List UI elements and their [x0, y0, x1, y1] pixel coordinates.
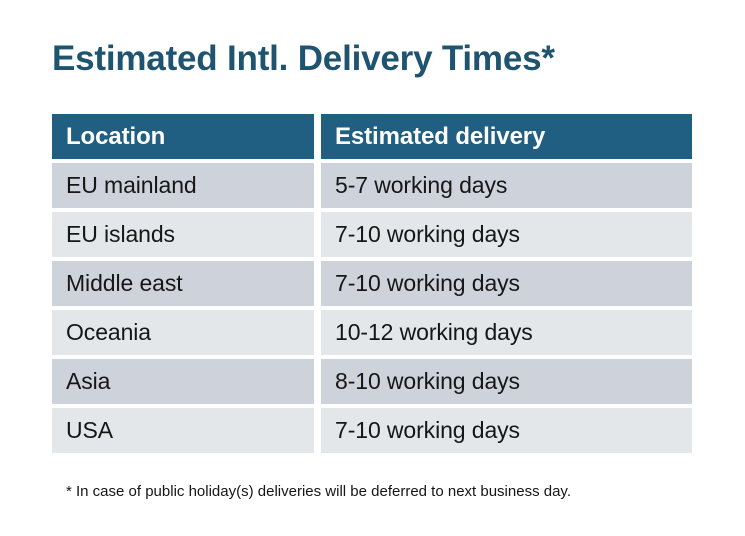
cell-estimated-delivery: 5-7 working days [321, 163, 692, 208]
delivery-times-table: Location Estimated delivery EU mainland … [52, 114, 692, 453]
table-header-row: Location Estimated delivery [52, 114, 692, 159]
table-row: USA 7-10 working days [52, 408, 692, 453]
column-separator [314, 359, 321, 404]
table-row: Oceania 10-12 working days [52, 310, 692, 355]
column-separator [314, 163, 321, 208]
cell-location: Asia [52, 359, 314, 404]
column-separator [314, 408, 321, 453]
table-row: Asia 8-10 working days [52, 359, 692, 404]
column-separator [314, 310, 321, 355]
page-title: Estimated Intl. Delivery Times* [52, 38, 555, 80]
cell-location: Middle east [52, 261, 314, 306]
cell-estimated-delivery: 8-10 working days [321, 359, 692, 404]
delivery-times-page: Estimated Intl. Delivery Times* Location… [0, 0, 745, 536]
table-row: Middle east 7-10 working days [52, 261, 692, 306]
cell-estimated-delivery: 7-10 working days [321, 408, 692, 453]
cell-estimated-delivery: 7-10 working days [321, 261, 692, 306]
table-row: EU mainland 5-7 working days [52, 163, 692, 208]
footnote-text: * In case of public holiday(s) deliverie… [66, 482, 571, 502]
cell-location: EU mainland [52, 163, 314, 208]
cell-estimated-delivery: 10-12 working days [321, 310, 692, 355]
column-header-estimated-delivery: Estimated delivery [321, 114, 692, 159]
column-separator [314, 261, 321, 306]
table-row: EU islands 7-10 working days [52, 212, 692, 257]
cell-location: EU islands [52, 212, 314, 257]
column-separator [314, 212, 321, 257]
cell-location: USA [52, 408, 314, 453]
cell-location: Oceania [52, 310, 314, 355]
column-header-location: Location [52, 114, 314, 159]
cell-estimated-delivery: 7-10 working days [321, 212, 692, 257]
column-separator [314, 114, 321, 159]
